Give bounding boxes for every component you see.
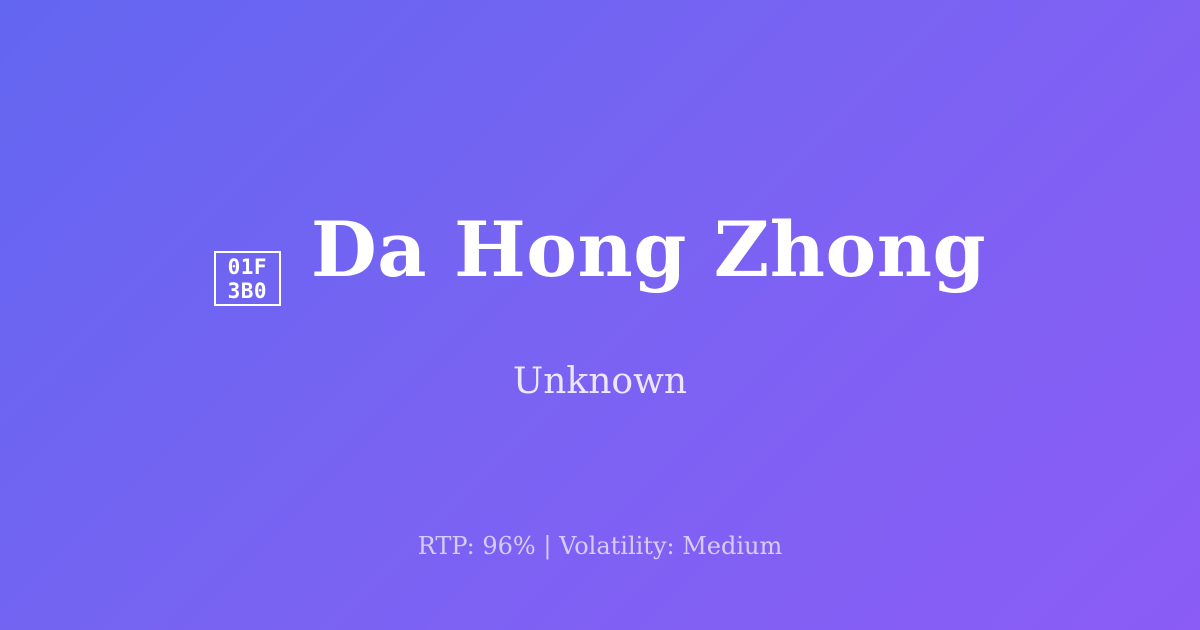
og-share-card: 01F 3B0 Da Hong Zhong Unknown RTP: 96% |…: [0, 0, 1200, 630]
tofu-codepoint-bottom: 3B0: [228, 279, 267, 303]
card-subtitle: Unknown: [513, 364, 687, 400]
slot-machine-icon: 01F 3B0: [214, 251, 281, 306]
page-title: Da Hong Zhong: [311, 212, 986, 288]
tofu-codepoint-top: 01F: [228, 255, 267, 279]
title-row: 01F 3B0 Da Hong Zhong: [0, 212, 1200, 309]
card-meta-line: RTP: 96% | Volatility: Medium: [0, 534, 1200, 558]
